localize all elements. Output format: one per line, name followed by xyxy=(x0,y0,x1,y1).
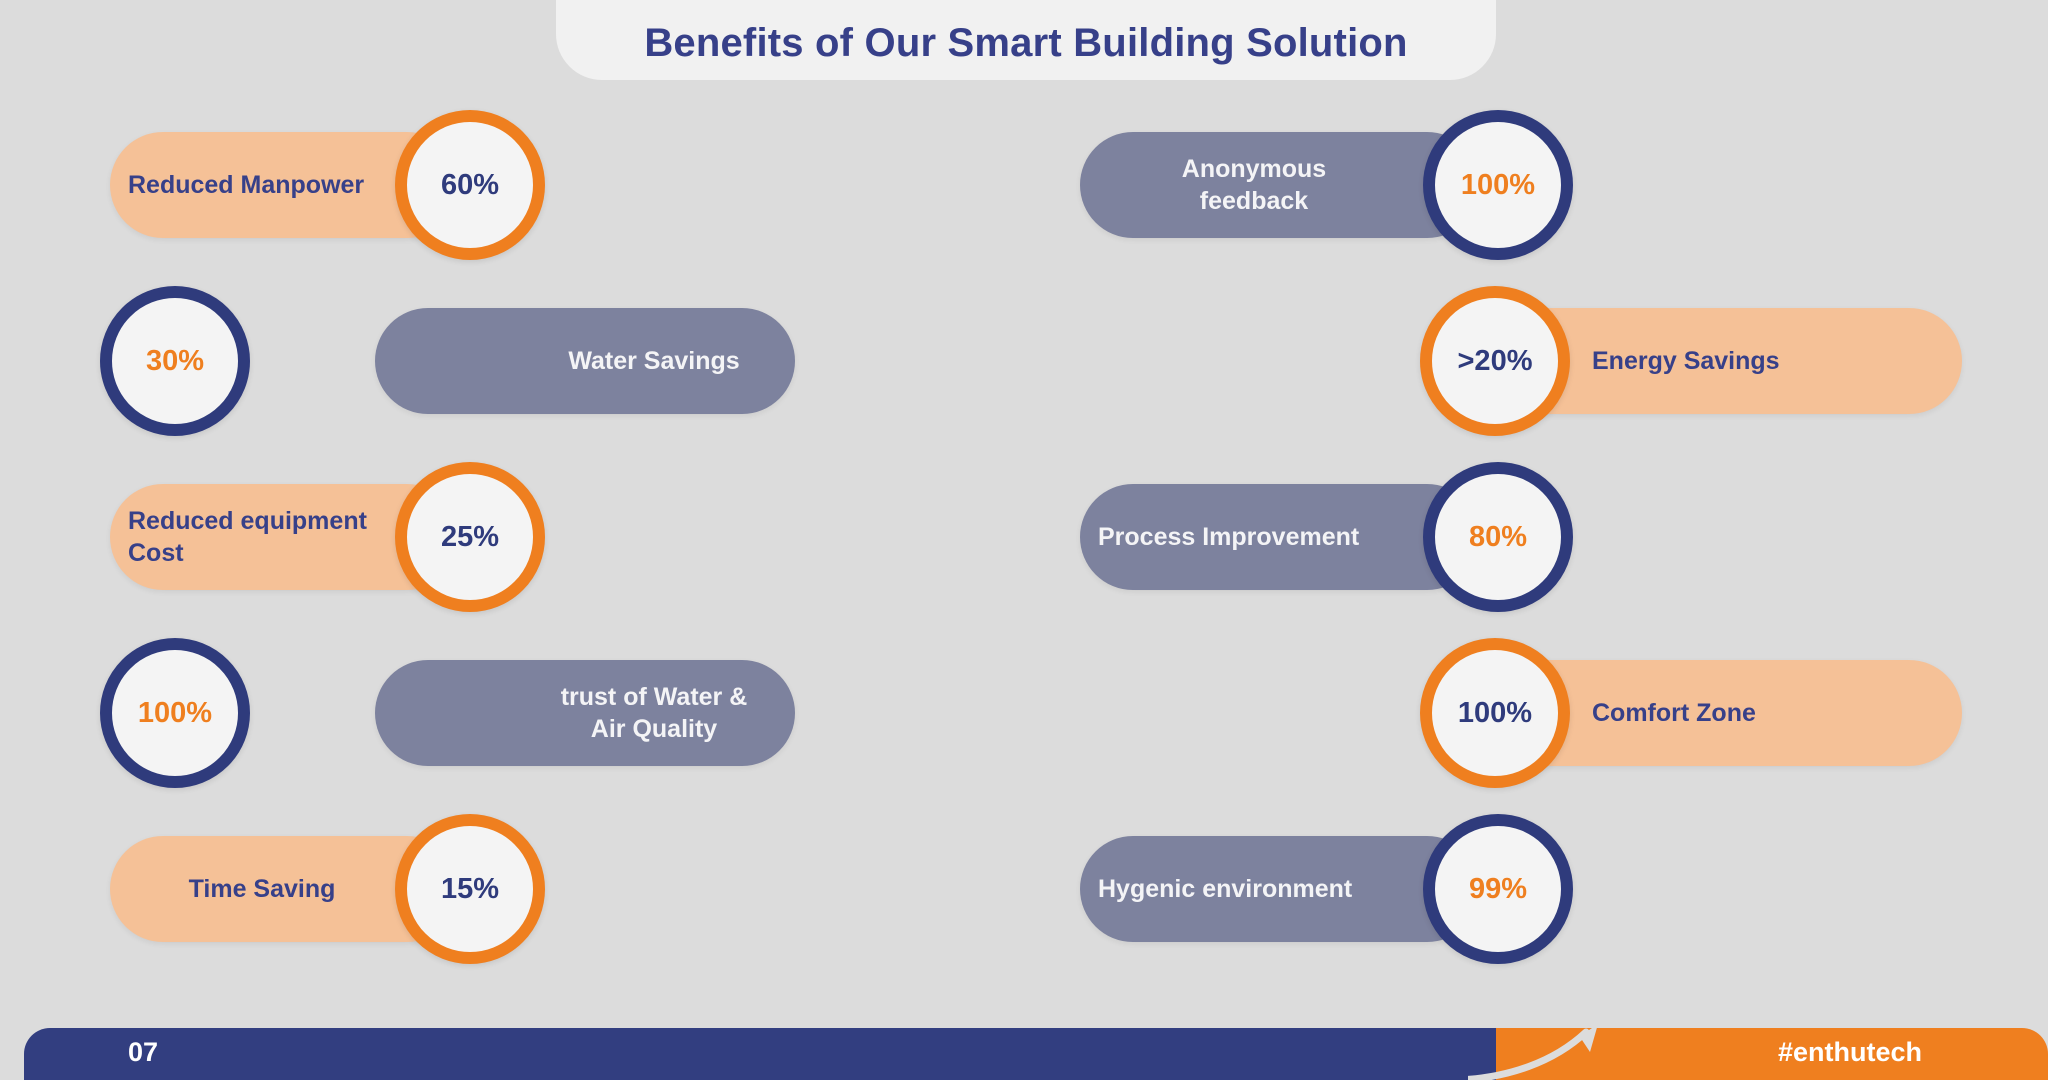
benefit-item[interactable]: Time Saving15% xyxy=(100,814,1040,964)
percentage-value: 100% xyxy=(138,697,212,730)
percentage-value: 30% xyxy=(146,345,204,378)
footer-bar: 07 #enthutech xyxy=(0,1018,2048,1080)
page-number: 07 xyxy=(128,1037,158,1068)
benefit-pill[interactable]: trust of Water & Air Quality xyxy=(375,660,795,766)
percentage-badge[interactable]: 80% xyxy=(1423,462,1573,612)
benefit-label: trust of Water & Air Quality xyxy=(561,681,748,745)
benefit-item[interactable]: Hygenic environment99% xyxy=(1080,814,2020,964)
percentage-value: 15% xyxy=(441,873,499,906)
benefit-item[interactable]: Reduced equipment Cost25% xyxy=(100,462,1040,612)
benefit-item[interactable]: Reduced Manpower60% xyxy=(100,110,1040,260)
benefits-column-left: Reduced Manpower60%Water Savings30%Reduc… xyxy=(100,110,1040,990)
benefit-item[interactable]: Energy Savings>20% xyxy=(1080,286,2020,436)
title-card: Benefits of Our Smart Building Solution xyxy=(556,0,1496,80)
footer-orange-section xyxy=(1496,1028,2048,1080)
percentage-badge[interactable]: 15% xyxy=(395,814,545,964)
percentage-value: >20% xyxy=(1458,345,1533,378)
benefit-pill[interactable]: Anonymous feedback xyxy=(1080,132,1480,238)
benefit-pill[interactable]: Hygenic environment xyxy=(1080,836,1480,942)
benefit-label: Process Improvement xyxy=(1098,521,1359,553)
benefit-label: Energy Savings xyxy=(1592,345,1780,377)
percentage-value: 25% xyxy=(441,521,499,554)
percentage-badge[interactable]: 99% xyxy=(1423,814,1573,964)
percentage-value: 100% xyxy=(1461,169,1535,202)
benefit-item[interactable]: Anonymous feedback100% xyxy=(1080,110,2020,260)
benefit-label: Time Saving xyxy=(189,873,336,905)
percentage-value: 100% xyxy=(1458,697,1532,730)
slide-canvas: Benefits of Our Smart Building Solution … xyxy=(0,0,2048,1080)
hashtag-label: #enthutech xyxy=(1778,1037,1922,1068)
benefit-pill[interactable]: Water Savings xyxy=(375,308,795,414)
benefit-pill[interactable]: Process Improvement xyxy=(1080,484,1480,590)
benefits-column-right: Anonymous feedback100%Energy Savings>20%… xyxy=(1080,110,2020,990)
benefit-label: Anonymous feedback xyxy=(1182,153,1326,217)
benefit-label: Hygenic environment xyxy=(1098,873,1352,905)
percentage-badge[interactable]: 100% xyxy=(1423,110,1573,260)
percentage-badge[interactable]: 30% xyxy=(100,286,250,436)
percentage-badge[interactable]: 100% xyxy=(1420,638,1570,788)
percentage-badge[interactable]: >20% xyxy=(1420,286,1570,436)
percentage-badge[interactable]: 60% xyxy=(395,110,545,260)
benefit-item[interactable]: Comfort Zone100% xyxy=(1080,638,2020,788)
percentage-badge[interactable]: 25% xyxy=(395,462,545,612)
percentage-badge[interactable]: 100% xyxy=(100,638,250,788)
benefit-item[interactable]: trust of Water & Air Quality100% xyxy=(100,638,1040,788)
benefit-item[interactable]: Process Improvement80% xyxy=(1080,462,2020,612)
percentage-value: 80% xyxy=(1469,521,1527,554)
benefit-label: Reduced equipment Cost xyxy=(128,505,367,569)
percentage-value: 60% xyxy=(441,169,499,202)
page-title: Benefits of Our Smart Building Solution xyxy=(644,21,1407,66)
benefit-label: Reduced Manpower xyxy=(128,169,364,201)
benefit-item[interactable]: Water Savings30% xyxy=(100,286,1040,436)
benefit-label: Comfort Zone xyxy=(1592,697,1756,729)
percentage-value: 99% xyxy=(1469,873,1527,906)
benefit-label: Water Savings xyxy=(568,345,739,377)
footer-navy-section xyxy=(24,1028,1580,1080)
